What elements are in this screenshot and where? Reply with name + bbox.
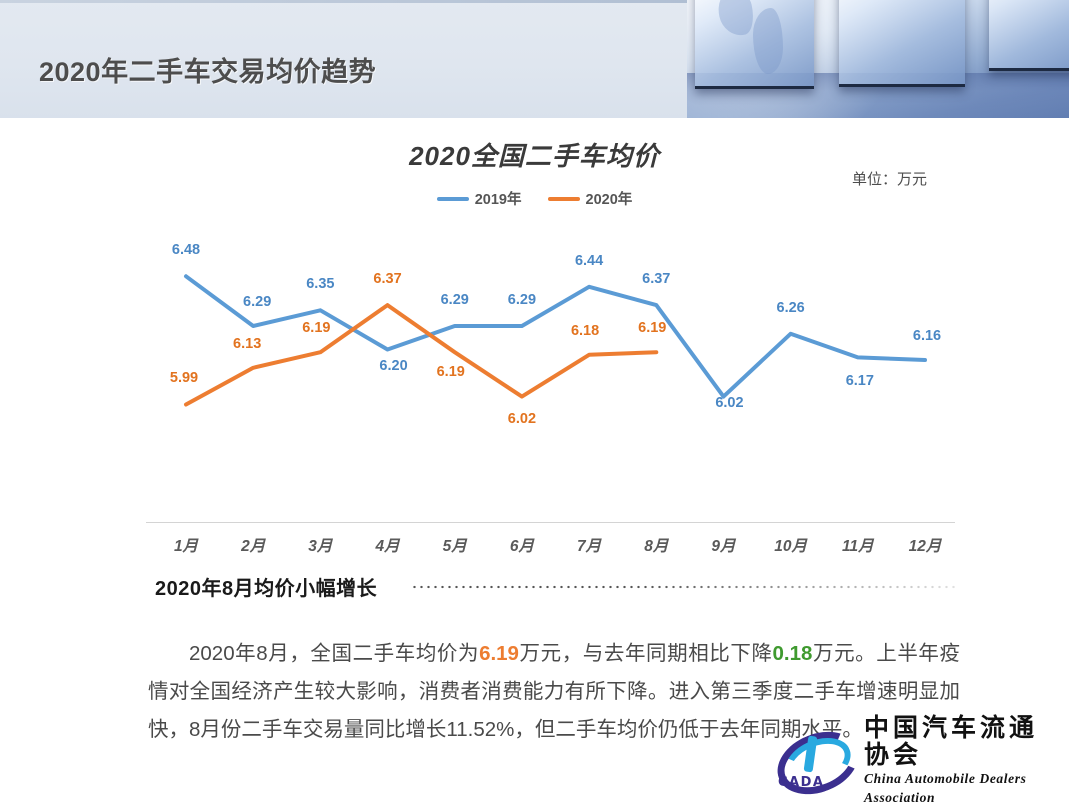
x-tick-8月: 8月: [644, 534, 668, 556]
x-tick-4月: 4月: [375, 534, 399, 556]
x-tick-2月: 2月: [241, 534, 265, 556]
data-label-2019年-2月: 6.29: [243, 294, 271, 310]
data-label-2019年-12月: 6.16: [913, 328, 941, 344]
data-label-2019年-6月: 6.29: [508, 292, 536, 308]
data-label-2020年-6月: 6.02: [508, 411, 536, 427]
data-label-2020年-2月: 6.13: [233, 336, 261, 352]
data-label-2019年-1月: 6.48: [172, 242, 200, 258]
header-decorative-image: [687, 0, 1069, 118]
decorative-cube-3: [989, 0, 1069, 71]
section-dotted-rule: [411, 581, 955, 593]
section-title: 2020年8月均价小幅增长: [155, 572, 377, 601]
chart-x-axis-line: [146, 522, 955, 523]
logo-name-cn: 中国汽车流通协会: [864, 715, 1052, 770]
data-label-2019年-11月: 6.17: [846, 373, 874, 389]
data-label-2019年-4月: 6.20: [379, 358, 407, 374]
logo-abbr: CADA: [778, 775, 824, 790]
decorative-cube-1: [695, 0, 814, 89]
legend-item-2020[interactable]: 2020年: [548, 188, 633, 209]
data-label-2019年-7月: 6.44: [575, 253, 603, 269]
x-tick-5月: 5月: [443, 534, 467, 556]
series-line-2019: [186, 276, 925, 396]
world-map-shape: [715, 0, 758, 39]
slide-header-band: 2020年二手车交易均价趋势: [0, 0, 1069, 118]
paragraph-text: 2020年8月，全国二手车均价为: [189, 642, 479, 665]
x-tick-7月: 7月: [577, 534, 601, 556]
legend-label-2019: 2019年: [475, 188, 522, 209]
legend-label-2020: 2020年: [586, 188, 633, 209]
section-header: 2020年8月均价小幅增长: [155, 572, 955, 601]
x-tick-10月: 10月: [774, 534, 807, 556]
data-label-2020年-7月: 6.18: [571, 323, 599, 339]
decorative-cube-2: [839, 0, 965, 87]
legend-swatch-2020: [548, 197, 580, 201]
x-tick-3月: 3月: [308, 534, 332, 556]
legend-item-2019[interactable]: 2019年: [437, 188, 522, 209]
x-tick-1月: 1月: [174, 534, 198, 556]
chart-x-axis-ticks: 1月2月3月4月5月6月7月8月9月10月11月12月: [146, 534, 955, 560]
x-tick-11月: 11月: [842, 534, 874, 556]
chart-unit-note: 单位：万元: [852, 168, 927, 189]
legend-swatch-2019: [437, 197, 469, 201]
data-label-2020年-3月: 6.19: [302, 320, 330, 336]
organization-logo: CADA 中国汽车流通协会 China Automobile Dealers A…: [772, 730, 1052, 792]
x-tick-6月: 6月: [510, 534, 534, 556]
data-label-2020年-5月: 6.19: [437, 364, 465, 380]
paragraph-text: 万元，与去年同期相比下降: [519, 642, 773, 665]
highlight-decline: 0.18: [773, 642, 813, 665]
data-label-2019年-8月: 6.37: [642, 271, 670, 287]
logo-name-en: China Automobile Dealers Association: [864, 770, 1052, 807]
highlight-average-price: 6.19: [479, 642, 519, 665]
data-label-2019年-10月: 6.26: [777, 300, 805, 316]
series-line-2020: [186, 305, 656, 404]
logo-wordmark: 中国汽车流通协会 China Automobile Dealers Associ…: [864, 715, 1052, 807]
world-map-shape: [753, 8, 783, 74]
x-tick-12月: 12月: [909, 534, 942, 556]
data-label-2020年-4月: 6.37: [373, 271, 401, 287]
data-label-2019年-3月: 6.35: [306, 276, 334, 292]
x-tick-9月: 9月: [711, 534, 735, 556]
data-label-2019年-9月: 6.02: [715, 395, 743, 411]
data-label-2020年-8月: 6.19: [638, 320, 666, 336]
data-label-2019年-5月: 6.29: [441, 292, 469, 308]
chart-legend: 2019年 2020年: [0, 188, 1069, 209]
page-title: 2020年二手车交易均价趋势: [39, 50, 376, 89]
data-label-2020年-1月: 5.99: [170, 370, 198, 386]
cada-logo-icon: CADA: [772, 732, 856, 790]
